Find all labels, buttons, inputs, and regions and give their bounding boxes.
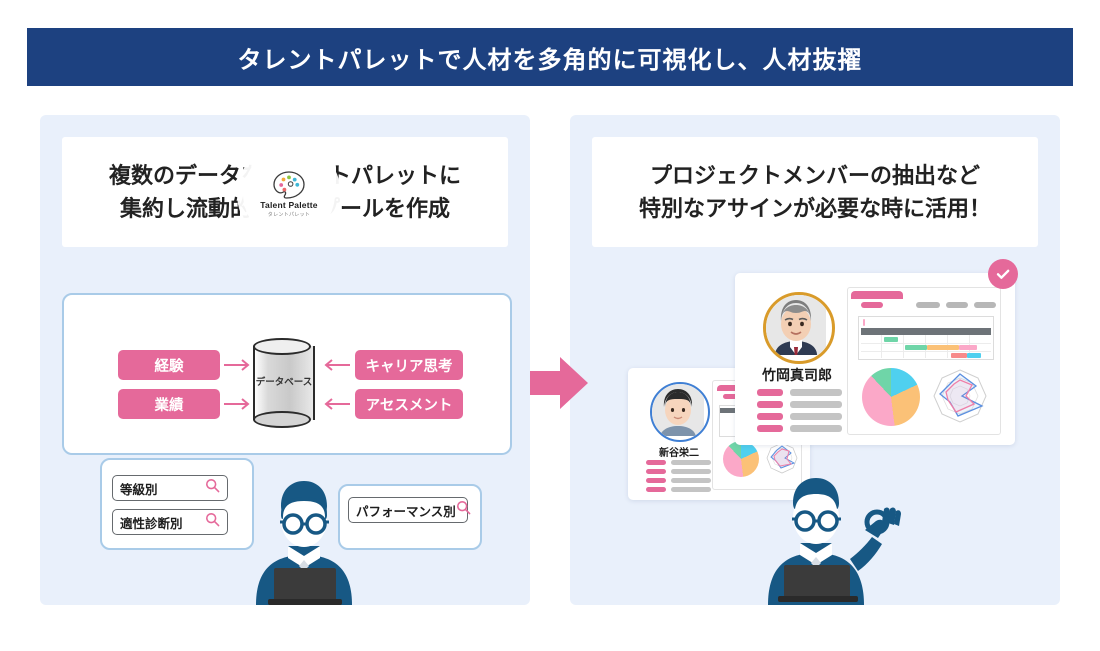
page-title: タレントパレットで人材を多角的に可視化し、人材抜擢 [238,40,863,75]
palette-icon [272,171,306,199]
meta-key [646,478,666,483]
list-item [646,469,711,474]
check-circle-icon [988,259,1018,289]
flow-arrow-left-icon-2 [320,397,350,411]
gantt-table [858,316,994,360]
list-item [757,413,842,420]
meta-key [757,401,783,408]
meta-value [790,413,842,420]
list-item [757,425,842,432]
profile-card-back-meta [646,460,711,496]
logo-subtitle: タレントパレット [268,211,310,218]
meta-value [671,469,711,474]
source-tag-assessment: アセスメント [355,389,463,419]
source-tag-assessment-label: アセスメント [366,394,453,415]
right-caption-line-1: プロジェクトメンバーの抽出など [650,159,980,192]
search-group-left [100,458,254,550]
avatar [763,292,835,364]
search-field-grade-label: 等級別 [120,479,158,498]
flow-arrow-right-icon-2 [224,397,254,411]
list-item [646,478,711,483]
tab-chip-2[interactable] [916,302,940,308]
flow-arrow-right-icon-1 [224,358,254,372]
page-root: タレントパレットで人材を多角的に可視化し、人材抜擢 複数のデータをタレントパレッ… [0,0,1100,651]
meta-key [646,460,666,465]
meta-value [790,425,842,432]
profile-card-front[interactable]: 竹岡真司郎 [735,273,1015,445]
meta-value [671,460,711,465]
source-tag-results-label: 業績 [155,394,184,415]
list-item [757,389,842,396]
radar-chart [932,368,988,424]
search-icon[interactable] [205,512,220,532]
right-caption-line-2: 特別なアサインが必要な時に活用！ [639,192,991,225]
search-icon[interactable] [456,500,471,520]
list-item [757,401,842,408]
list-item [646,487,711,492]
meta-key [757,413,783,420]
source-tag-experience: 経験 [118,350,220,380]
meta-value [671,478,711,483]
businessman-at-laptop-icon [238,460,370,605]
profile-card-front-name: 竹岡真司郎 [753,365,841,385]
search-field-performance-label: パフォーマンス別 [356,501,456,520]
profile-card-back-name: 新谷栄二 [640,444,718,459]
meta-value [790,401,842,408]
search-field-aptitude[interactable]: 適性診断別 [112,509,228,535]
database-label: データベース [253,374,315,388]
meta-key [646,469,666,474]
meta-value [790,389,842,396]
profile-card-front-dashboard [847,287,1001,435]
avatar [650,382,710,442]
source-tag-career: キャリア思考 [355,350,463,380]
tab-bar-active[interactable] [851,291,903,299]
meta-value [671,487,711,492]
meta-key [757,389,783,396]
source-tag-career-label: キャリア思考 [366,355,453,376]
page-title-bar: タレントパレットで人材を多角的に可視化し、人材抜擢 [27,28,1073,86]
tab-chip-3[interactable] [946,302,968,308]
right-arrow-icon [530,355,588,411]
source-tag-results: 業績 [118,389,220,419]
meta-key [646,487,666,492]
logo-name: Talent Palette [260,200,317,210]
search-icon[interactable] [205,478,220,498]
pie-chart [862,368,920,426]
database-cylinder-icon: データベース [253,338,315,430]
tab-chip-4[interactable] [974,302,996,308]
profile-card-front-meta [757,389,842,437]
flow-arrow-left-icon-1 [320,358,350,372]
businessman-ok-gesture-icon [752,455,912,605]
source-tag-experience-label: 経験 [155,355,184,376]
search-field-grade[interactable]: 等級別 [112,475,228,501]
search-field-aptitude-label: 適性診断別 [120,513,183,532]
list-item [646,460,711,465]
talent-palette-logo: Talent Palette タレントパレット [243,148,335,240]
meta-key [757,425,783,432]
tab-chip-active[interactable] [861,302,883,308]
right-panel-caption: プロジェクトメンバーの抽出など 特別なアサインが必要な時に活用！ [592,137,1038,247]
